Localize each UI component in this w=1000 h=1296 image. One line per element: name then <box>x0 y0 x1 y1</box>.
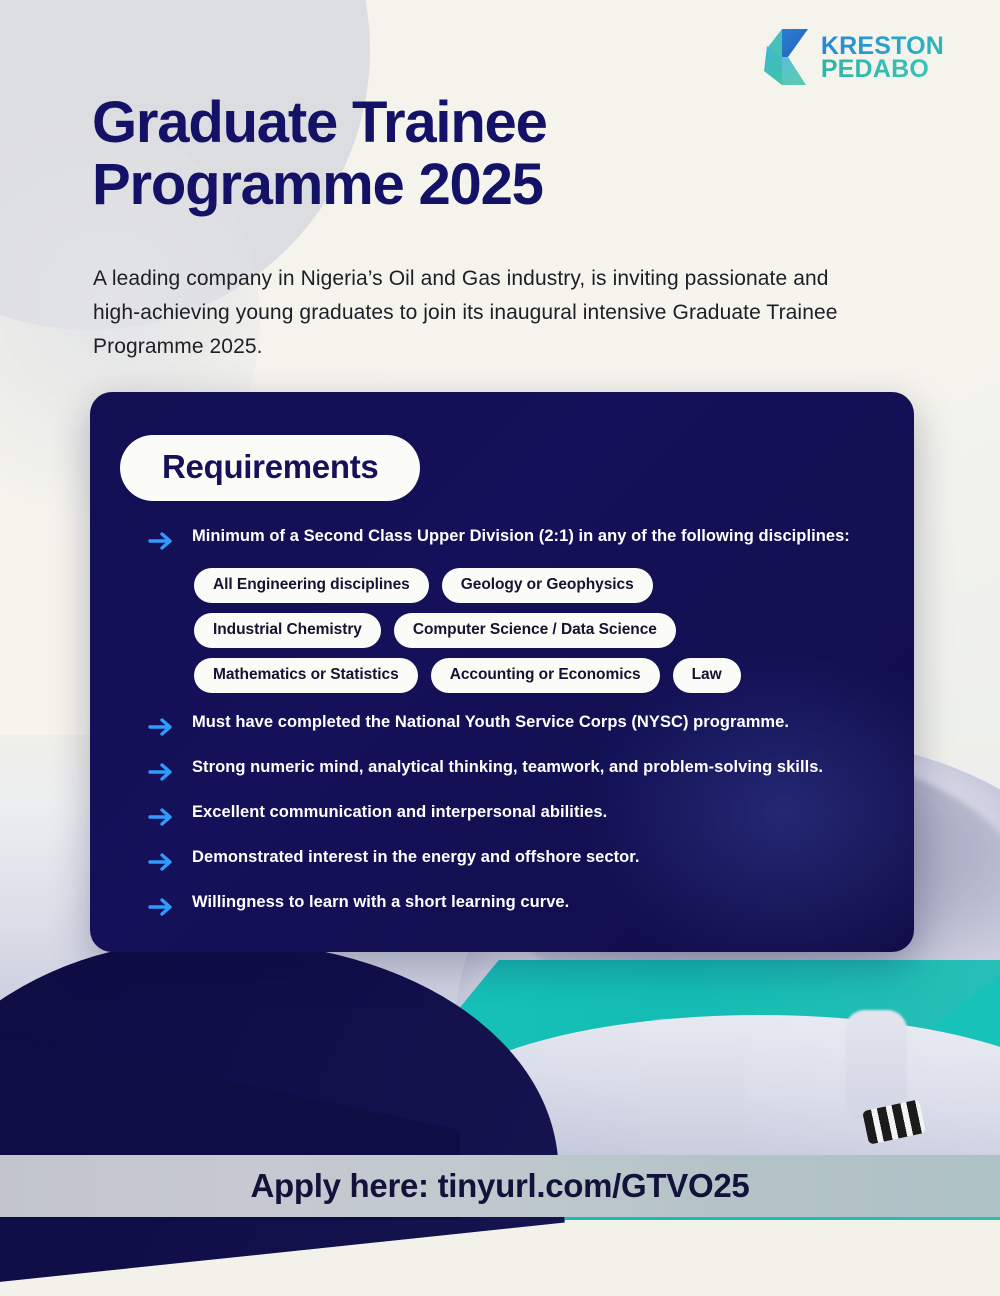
brand-wordmark: KRESTON PEDABO <box>821 35 944 82</box>
requirement-text: Willingness to learn with a short learni… <box>192 891 569 914</box>
requirement-bold: Second Class Upper Division (2:1) <box>304 527 574 545</box>
requirement-text: Demonstrated interest in the energy and … <box>192 846 640 869</box>
discipline-chip: Mathematics or Statistics <box>194 658 418 693</box>
discipline-chip-group: All Engineering disciplines Geology or G… <box>194 568 894 693</box>
requirement-item: Willingness to learn with a short learni… <box>148 891 888 920</box>
arrow-right-icon <box>148 894 176 920</box>
requirements-list: Minimum of a Second Class Upper Division… <box>148 525 888 936</box>
discipline-chip-row-1: All Engineering disciplines Geology or G… <box>194 568 894 603</box>
kreston-chevron-mark-icon <box>762 27 812 89</box>
discipline-chip: Law <box>673 658 741 693</box>
apply-cta[interactable]: Apply here: tinyurl.com/GTVO25 <box>0 1167 1000 1205</box>
requirement-prefix: Minimum of a <box>192 527 304 545</box>
discipline-chip: All Engineering disciplines <box>194 568 429 603</box>
arrow-right-icon <box>148 528 176 554</box>
requirement-suffix: in any of the following disciplines: <box>574 527 850 545</box>
page-title: Graduate Trainee Programme 2025 <box>92 92 792 216</box>
title-line-2: Programme 2025 <box>92 154 792 216</box>
requirement-item: Demonstrated interest in the energy and … <box>148 846 888 875</box>
requirement-bullet-list: Must have completed the National Youth S… <box>148 711 888 920</box>
intro-paragraph: A leading company in Nigeria’s Oil and G… <box>93 262 853 364</box>
requirement-item-primary: Minimum of a Second Class Upper Division… <box>148 525 888 554</box>
discipline-chip: Geology or Geophysics <box>442 568 653 603</box>
title-line-1: Graduate Trainee <box>92 90 547 155</box>
requirement-text: Excellent communication and interpersona… <box>192 801 607 824</box>
arrow-right-icon <box>148 759 176 785</box>
discipline-chip: Industrial Chemistry <box>194 613 381 648</box>
requirement-text: Must have completed the National Youth S… <box>192 711 789 734</box>
requirement-item: Must have completed the National Youth S… <box>148 711 888 740</box>
brand-name-line2: PEDABO <box>821 58 944 81</box>
discipline-chip: Computer Science / Data Science <box>394 613 676 648</box>
requirements-heading: Requirements <box>120 435 420 501</box>
discipline-chip: Accounting or Economics <box>431 658 660 693</box>
requirement-text: Strong numeric mind, analytical thinking… <box>192 756 823 779</box>
discipline-chip-row-3: Mathematics or Statistics Accounting or … <box>194 658 894 693</box>
arrow-right-icon <box>148 849 176 875</box>
requirement-item: Strong numeric mind, analytical thinking… <box>148 756 888 785</box>
brand-logo: KRESTON PEDABO <box>762 27 944 89</box>
requirements-card: Requirements Minimum of a Second Class U… <box>90 392 914 952</box>
arrow-right-icon <box>148 804 176 830</box>
requirement-primary-text: Minimum of a Second Class Upper Division… <box>192 525 850 548</box>
requirement-item: Excellent communication and interpersona… <box>148 801 888 830</box>
discipline-chip-row-2: Industrial Chemistry Computer Science / … <box>194 613 894 648</box>
arrow-right-icon <box>148 714 176 740</box>
